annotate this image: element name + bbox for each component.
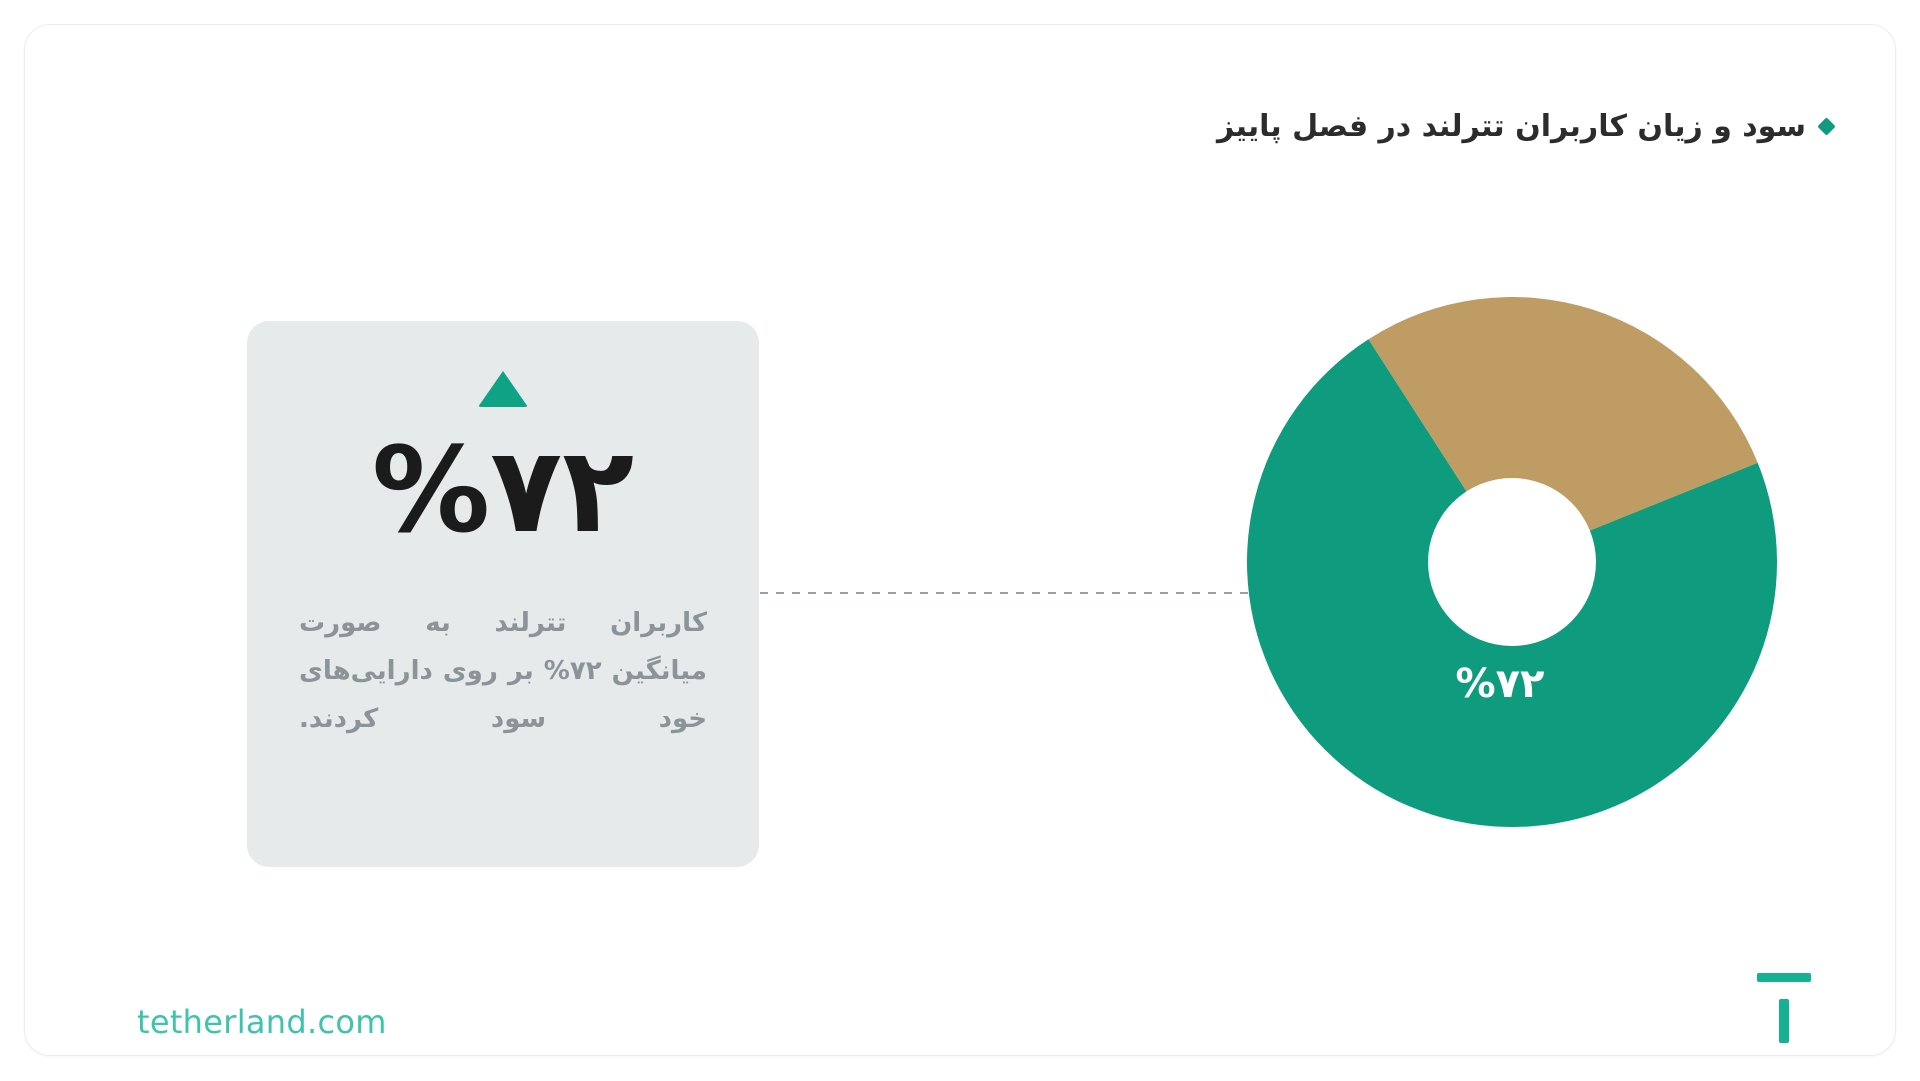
donut-chart-svg [1247,297,1777,827]
callout-connector-line [760,592,1280,594]
stat-value: %۷۲ [372,429,634,553]
chart-header: سود و زیان کاربران تترلند در فصل پاییز [1217,107,1833,146]
content-frame: سود و زیان کاربران تترلند در فصل پاییز %… [24,24,1896,1056]
page-title: سود و زیان کاربران تترلند در فصل پاییز [1217,107,1806,146]
stat-card: %۷۲ کاربران تترلند به صورت میانگین ۷۲% ب… [247,321,759,867]
website-link[interactable]: tetherland.com [137,1003,387,1041]
diamond-bullet-icon [1817,117,1835,135]
infographic-page: سود و زیان کاربران تترلند در فصل پاییز %… [0,0,1920,1081]
logo-bar [1757,973,1811,982]
donut-hole [1428,478,1596,646]
donut-chart: %۷۲ [1247,297,1777,827]
triangle-up-icon [478,371,528,407]
logo-stem [1779,999,1789,1043]
stat-description: کاربران تترلند به صورت میانگین ۷۲% بر رو… [299,599,707,743]
tetherland-t-logo-icon [1757,973,1811,1051]
